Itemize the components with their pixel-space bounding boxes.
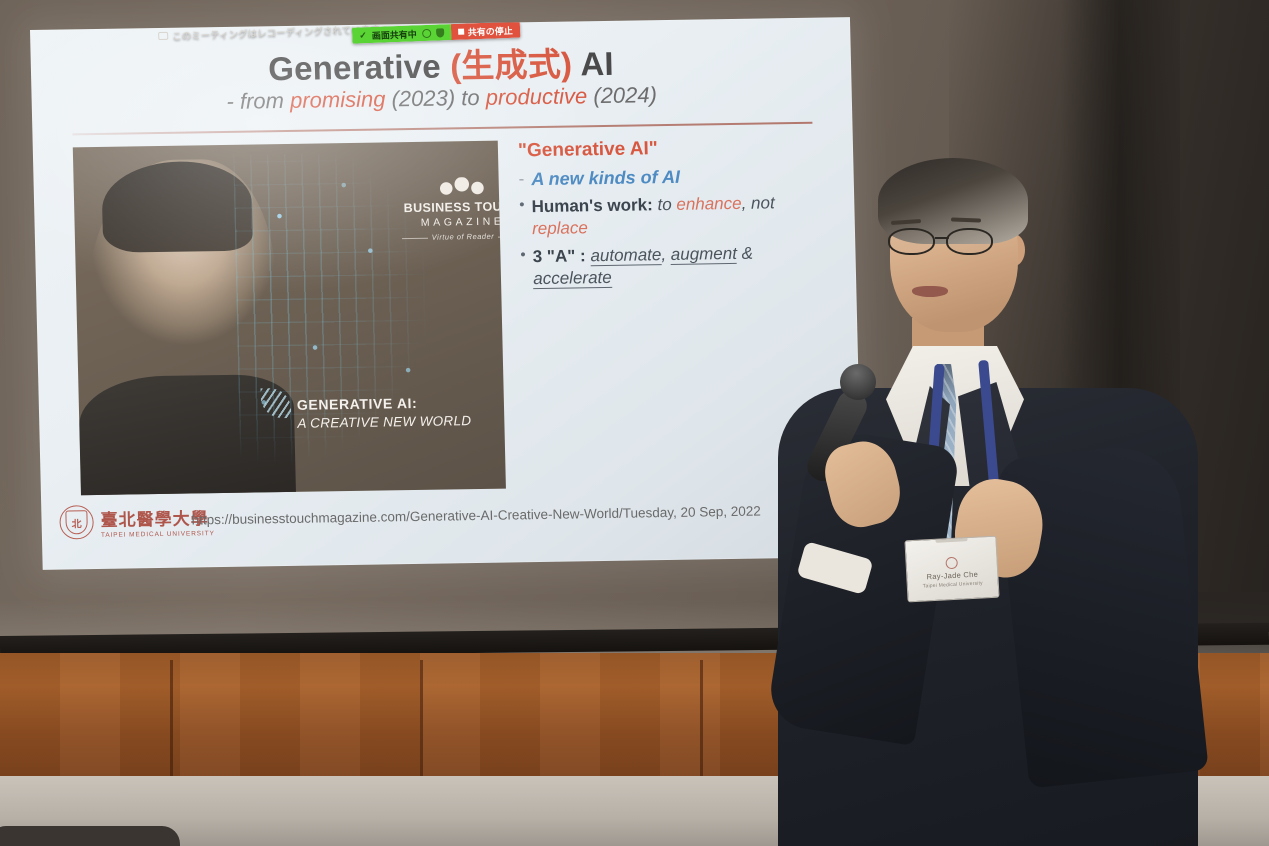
bullet-dash-marker: - — [518, 168, 524, 189]
source-url: https://businesstouchmagazine.com/Genera… — [191, 504, 761, 528]
speaker-person: Ray-Jade Che Taipei Medical University — [760, 150, 1230, 846]
slide-title-cjk: (生成式) — [450, 45, 573, 84]
wood-panel-seam — [170, 660, 173, 780]
bullet-3-sep-2: & — [737, 243, 754, 262]
slide-title-part1: Generative — [268, 47, 451, 87]
recording-icon — [158, 32, 168, 40]
wood-panel-seam — [420, 660, 423, 780]
bullet-2-lead: Human's work: — [531, 196, 653, 217]
check-icon: ✓ — [359, 30, 367, 41]
lens-right — [946, 228, 993, 255]
projection-screen: このミーティングはレコーディングされています ✓ 画面共有中 共有の停止 Gen… — [30, 17, 863, 570]
stop-square-icon — [458, 29, 464, 35]
slide-title-part2: AI — [572, 45, 614, 83]
badge-org: Taipei Medical University — [923, 580, 983, 589]
wood-panel-seam — [700, 660, 703, 780]
bullet-dot-marker: • — [520, 246, 526, 265]
badge-name: Ray-Jade Che — [926, 569, 978, 581]
slide-canvas: このミーティングはレコーディングされています ✓ 画面共有中 共有の停止 Gen… — [30, 17, 863, 570]
bullet-3-accent-1: automate — [590, 245, 661, 266]
shield-icon[interactable] — [436, 28, 444, 37]
subtitle-prefix: - from — [226, 88, 290, 114]
crest-char: 北 — [71, 515, 81, 530]
slide-image-generative-ai: BUSINESS TOUCH MAGAZINE Virtue of Reader… — [73, 141, 506, 496]
bullet-dot-marker: • — [519, 197, 525, 216]
presentation-scene: このミーティングはレコーディングされています ✓ 画面共有中 共有の停止 Gen… — [0, 0, 1269, 846]
bullet-1-text: A new kinds of AI — [531, 167, 680, 189]
badge-crest-icon — [945, 556, 958, 569]
subtitle-suffix: (2024) — [587, 82, 657, 108]
bullet-2-accent-2: replace — [532, 219, 588, 239]
subtitle-highlight-2: productive — [485, 83, 587, 110]
chair-silhouette — [0, 826, 180, 846]
stop-share-button[interactable]: 共有の停止 — [450, 22, 520, 41]
bullet-3-accent-3: accelerate — [533, 268, 612, 289]
stop-share-label: 共有の停止 — [467, 23, 513, 38]
bullet-3-accent-2: augment — [671, 243, 738, 264]
magazine-subtitle: MAGAZINE — [395, 215, 506, 229]
people-group-icon — [436, 177, 488, 198]
image-caption-line2: A CREATIVE NEW WORLD — [297, 413, 497, 431]
magazine-logo: BUSINESS TOUCH MAGAZINE Virtue of Reader — [394, 176, 506, 242]
pause-circle-icon[interactable] — [422, 28, 431, 37]
title-divider — [72, 122, 812, 135]
image-caption: GENERATIVE AI: A CREATIVE NEW WORLD — [297, 394, 498, 431]
subtitle-highlight-1: promising — [290, 86, 386, 112]
magazine-name: BUSINESS TOUCH — [394, 199, 506, 215]
name-badge: Ray-Jade Che Taipei Medical University — [904, 536, 999, 603]
university-name-en: TAIPEI MEDICAL UNIVERSITY — [101, 530, 215, 539]
magazine-tagline: Virtue of Reader — [395, 231, 506, 242]
eyeglasses-icon — [884, 228, 1016, 256]
university-crest-icon: 北 — [59, 505, 94, 540]
bullet-2-mid: to — [653, 195, 677, 214]
mouth — [912, 286, 948, 297]
sharing-status-label: 画面共有中 — [371, 27, 417, 42]
bullet-2-accent-1: enhance — [676, 194, 742, 214]
subtitle-mid: (2023) to — [385, 85, 486, 112]
bullet-3-lead: 3 "A" : — [533, 246, 586, 266]
lens-left — [888, 228, 935, 255]
image-caption-line1: GENERATIVE AI: — [297, 394, 497, 413]
